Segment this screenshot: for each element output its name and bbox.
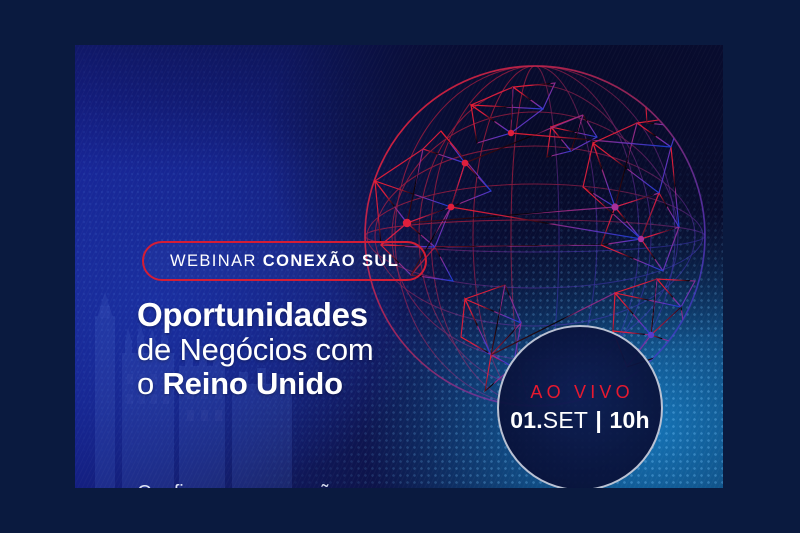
live-badge: AO VIVO 01.SET | 10h [497,325,663,488]
webinar-badge-prefix: WEBINAR [170,252,257,270]
page-root: WEBINAR CONEXÃO SUL Oportunidades de Neg… [0,0,800,533]
headline-line-3-bold: Reino Unido [162,366,342,401]
headline-line-3: o Reino Unido [137,367,374,401]
page-title: Oportunidades de Negócios com o Reino Un… [137,297,374,401]
headline-line-1: Oportunidades [137,297,374,333]
live-badge-month: SET [543,407,588,433]
webinar-badge-text: WEBINAR CONEXÃO SUL [170,252,399,271]
webinar-promo-banner[interactable]: WEBINAR CONEXÃO SUL Oportunidades de Neg… [75,45,723,488]
headline-line-3-thin: o [137,366,162,401]
live-badge-label: AO VIVO [526,382,634,403]
live-badge-day: 01. [510,407,543,433]
webinar-badge: WEBINAR CONEXÃO SUL [142,241,427,281]
webinar-badge-title: CONEXÃO SUL [263,252,399,270]
banner-subline: Confira a programação [137,482,342,488]
headline-line-2: de Negócios com [137,333,374,367]
live-badge-separator: | [594,407,603,433]
live-badge-time: 10h [610,407,650,433]
live-badge-datetime: 01.SET | 10h [510,407,650,434]
